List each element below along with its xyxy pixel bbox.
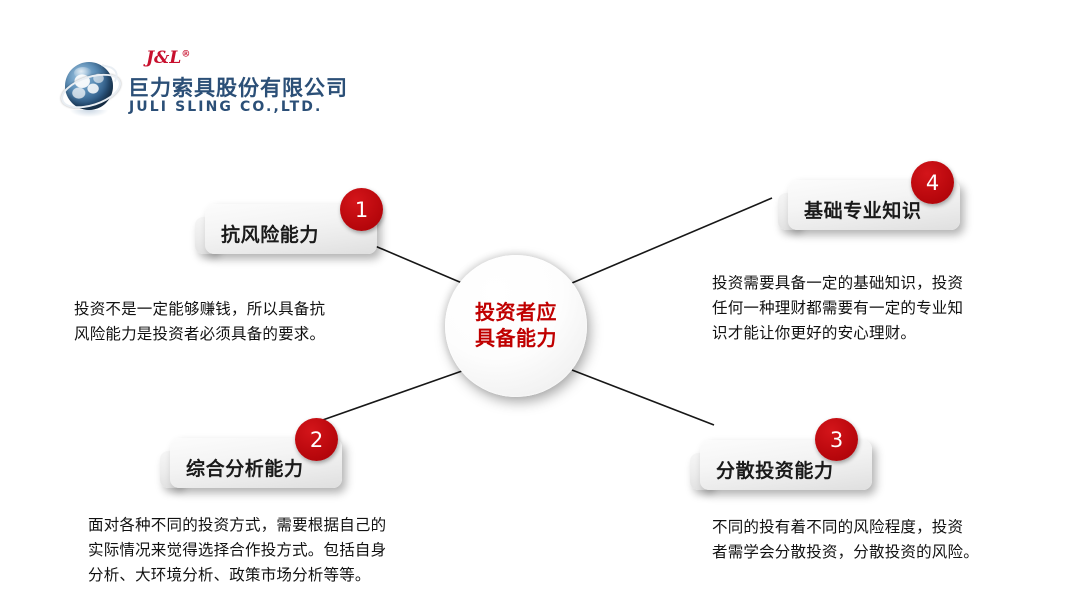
node-description-1: 投资不是一定能够赚钱，所以具备抗 风险能力是投资者必须具备的要求。 [74, 297, 404, 347]
center-node[interactable]: 投资者应 具备能力 [445, 255, 587, 397]
node-description-4: 投资需要具备一定的基础知识，投资 任何一种理财都需要有一定的专业知 识才能让你更… [712, 271, 1012, 346]
node-badge-1[interactable]: 1 [340, 188, 383, 231]
node-description-2: 面对各种不同的投资方式，需要根据自己的 实际情况来觉得选择合作投方式。包括自身 … [88, 513, 440, 588]
registered-trademark-icon: ® [181, 49, 190, 59]
globe-reflection [70, 110, 108, 117]
connector-line-1 [368, 243, 462, 283]
connector-line-3 [572, 370, 714, 425]
globe-sling-icon [62, 60, 116, 114]
company-name-en: JULI SLING CO.,LTD. [129, 99, 322, 115]
brand-mark-text: J&L [146, 48, 181, 68]
company-logo: J&L® 巨力索具股份有限公司 JULI SLING CO.,LTD. [58, 48, 358, 120]
brand-mark: J&L® [146, 48, 190, 68]
node-card-3-label: 分散投资能力 [716, 456, 876, 483]
node-badge-4[interactable]: 4 [911, 161, 954, 204]
node-badge-3[interactable]: 3 [815, 418, 858, 461]
company-name-cn: 巨力索具股份有限公司 [128, 72, 348, 102]
slide-canvas: J&L® 巨力索具股份有限公司 JULI SLING CO.,LTD. 投资者应… [0, 0, 1080, 608]
connector-line-2 [317, 371, 462, 422]
center-node-line-1: 投资者应 [475, 300, 557, 326]
node-description-3: 不同的投有着不同的风险程度，投资 者需学会分散投资，分散投资的风险。 [712, 515, 1030, 565]
node-badge-2[interactable]: 2 [295, 418, 338, 461]
center-node-line-2: 具备能力 [475, 326, 557, 352]
